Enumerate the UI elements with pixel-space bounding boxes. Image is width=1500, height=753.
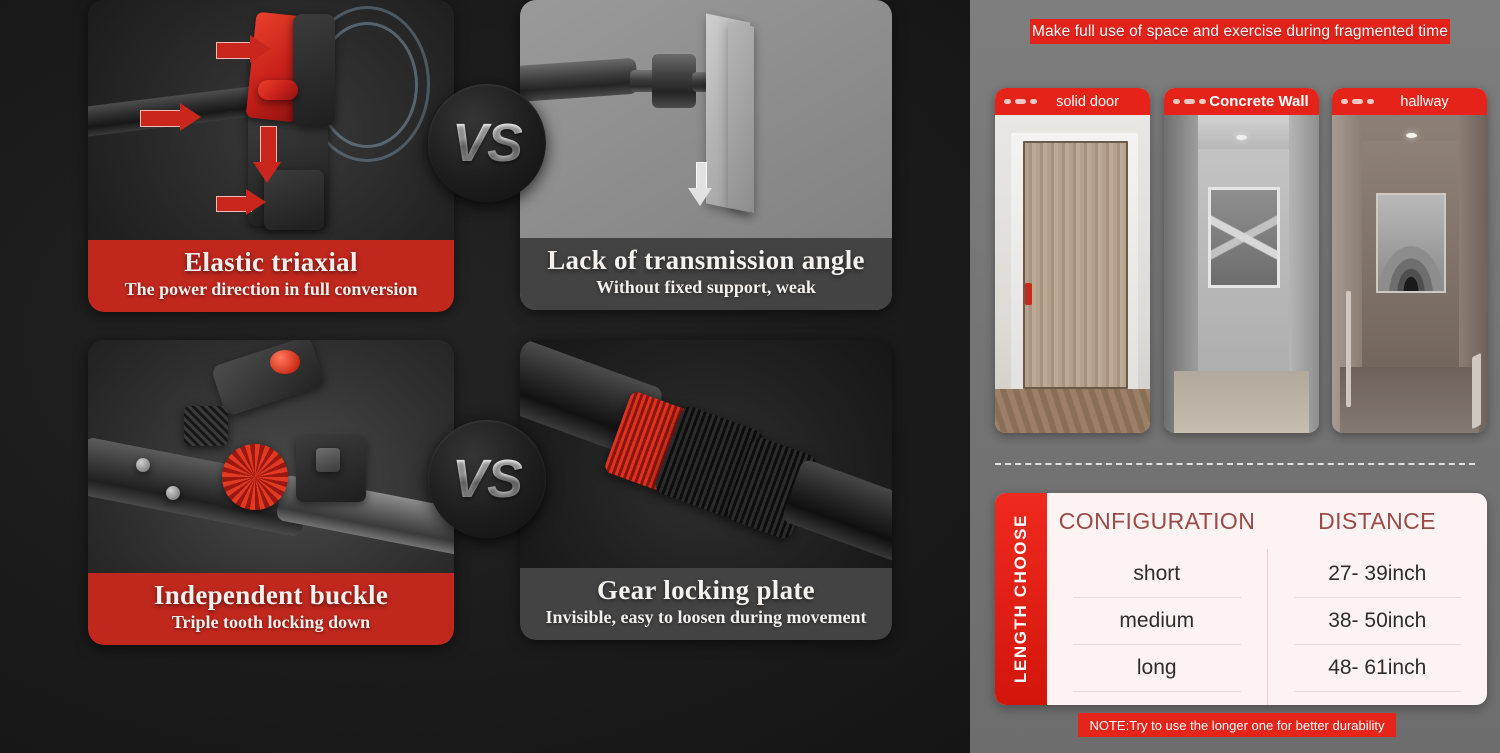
bolt-1 (136, 458, 150, 472)
vs-label: VS (452, 448, 522, 510)
table-column-distance: 27- 39inch 38- 50inch 48- 61inch (1267, 549, 1488, 705)
panel-title: Lack of transmission angle (530, 246, 882, 275)
wall-artwork-frame (1208, 187, 1280, 288)
card-title-label: solid door (1037, 94, 1150, 110)
table-cell: 27- 39inch (1294, 551, 1462, 598)
ceiling-downlight-icon (1236, 135, 1247, 140)
wall-artwork-image (1211, 190, 1277, 285)
caption-elastic-triaxial: Elastic triaxial The power direction in … (88, 240, 454, 312)
window-dots-icon (1004, 99, 1037, 104)
vs-badge-bottom: VS (428, 420, 546, 538)
table-cell: long (1073, 645, 1241, 692)
scene-card-concrete-wall: Concrete Wall (1164, 88, 1319, 433)
table-column-configuration: short medium long (1047, 549, 1267, 705)
red-release-button (270, 350, 300, 374)
plate-edge (728, 21, 754, 213)
table-header-row: CONFIGURATION DISTANCE (1047, 493, 1487, 549)
gray-end-cap (652, 54, 696, 108)
panel-subtitle: Invisible, easy to loosen during movemen… (530, 608, 882, 628)
hallway-floor (1340, 367, 1479, 433)
scene-photo-solid-door (995, 115, 1150, 433)
table-cell: 48- 61inch (1294, 645, 1462, 692)
locking-bar-right (781, 458, 892, 568)
panel-subtitle: Without fixed support, weak (530, 278, 882, 298)
window-dots-icon (1341, 99, 1374, 104)
card-title-label: Concrete Wall (1206, 93, 1319, 110)
card-title-bar: hallway (1332, 88, 1487, 115)
table-rows: short medium long 27- 39inch 38- 50inch … (1047, 549, 1487, 705)
card-title-label: hallway (1374, 94, 1487, 110)
door-handle (1025, 283, 1032, 305)
back-housing (293, 14, 335, 126)
panel-subtitle: The power direction in full conversion (98, 280, 444, 300)
release-lever (211, 340, 326, 417)
panel-lack-of-transmission-angle: Lack of transmission angle Without fixed… (520, 0, 892, 310)
section-divider (995, 463, 1475, 465)
table-cell: 38- 50inch (1294, 598, 1462, 645)
panel-subtitle: Triple tooth locking down (98, 613, 444, 633)
hallway-baseboard (1472, 353, 1481, 429)
table-header-distance: DISTANCE (1267, 508, 1487, 535)
vs-label: VS (452, 112, 522, 174)
table-header-configuration: CONFIGURATION (1047, 508, 1267, 535)
hallway-artwork-image (1378, 195, 1444, 291)
gray-bar-tube (520, 58, 638, 103)
card-title-bar: Concrete Wall (1164, 88, 1319, 115)
scene-photo-hallway (1332, 115, 1487, 433)
left-comparison-section: Elastic triaxial The power direction in … (0, 0, 970, 753)
table-cell: short (1073, 551, 1241, 598)
corridor-floor (1174, 371, 1309, 433)
scene-photo-concrete-wall (1164, 115, 1319, 433)
right-usage-section: Make full use of space and exercise duri… (970, 0, 1500, 753)
panel-independent-buckle: Independent buckle Triple tooth locking … (88, 340, 454, 645)
card-title-bar: solid door (995, 88, 1150, 115)
usage-header-banner: Make full use of space and exercise duri… (1030, 19, 1450, 44)
mesh-grip (184, 406, 228, 446)
caption-gear-locking-plate: Gear locking plate Invisible, easy to lo… (520, 568, 892, 640)
panel-title: Elastic triaxial (98, 248, 444, 277)
hallway-door-edge (1346, 291, 1351, 407)
table-side-label: LENGTH CHOOSE (995, 493, 1047, 705)
table-body: CONFIGURATION DISTANCE short medium long… (1047, 493, 1487, 705)
table-cell: medium (1073, 598, 1241, 645)
infographic-root: Elastic triaxial The power direction in … (0, 0, 1500, 753)
panel-gear-locking-plate: Gear locking plate Invisible, easy to lo… (520, 340, 892, 640)
length-choose-text: LENGTH CHOOSE (1011, 514, 1031, 683)
scene-card-solid-door: solid door (995, 88, 1150, 433)
clamp-stud (316, 448, 340, 472)
ceiling-downlight-icon (1406, 133, 1417, 138)
panel-title: Gear locking plate (530, 576, 882, 605)
panel-elastic-triaxial: Elastic triaxial The power direction in … (88, 0, 454, 312)
usage-scene-cards: solid door Concrete Wall (995, 88, 1487, 433)
length-choose-table: LENGTH CHOOSE CONFIGURATION DISTANCE sho… (995, 493, 1487, 705)
red-gear-teeth (222, 444, 288, 510)
caption-lack-of-transmission-angle: Lack of transmission angle Without fixed… (520, 238, 892, 310)
hallway-artwork-frame (1376, 193, 1446, 293)
bolt-2 (166, 486, 180, 500)
caption-independent-buckle: Independent buckle Triple tooth locking … (88, 573, 454, 645)
door-leaf (1023, 141, 1128, 389)
red-pivot (258, 80, 298, 100)
scene-card-hallway: hallway (1332, 88, 1487, 433)
vs-badge-top: VS (428, 84, 546, 202)
window-dots-icon (1173, 99, 1206, 104)
wood-floor (995, 389, 1150, 433)
note-banner: NOTE:Try to use the longer one for bette… (1078, 713, 1396, 737)
panel-title: Independent buckle (98, 581, 444, 610)
